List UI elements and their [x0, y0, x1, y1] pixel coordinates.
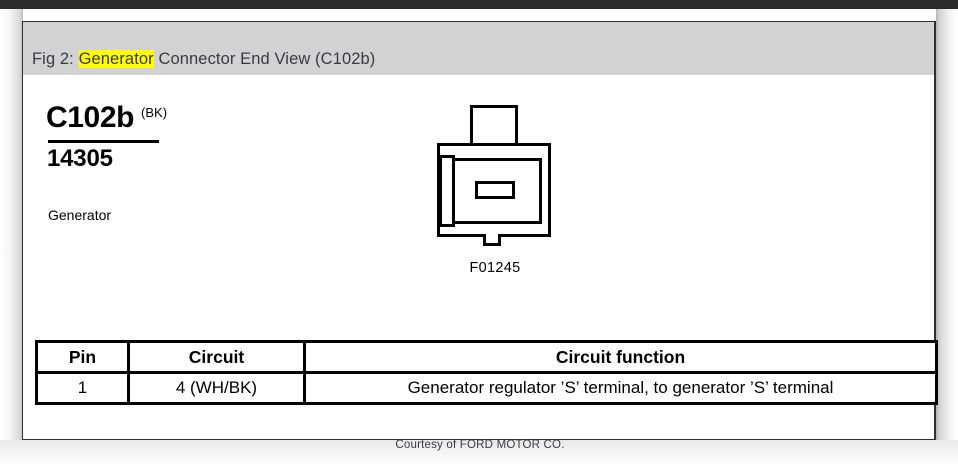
figure-document-card: Fig 2: Generator Connector End View (C10… [22, 21, 936, 440]
figure-caption-prefix: Fig 2: [32, 50, 79, 68]
connector-end-view-icon: F01245 [415, 105, 575, 290]
connector-id-underline [48, 140, 159, 143]
pin-cell-number: 1 [37, 373, 129, 404]
figure-caption-band: Fig 2: Generator Connector End View (C10… [23, 22, 934, 75]
connector-drawing-label: F01245 [415, 260, 575, 276]
connector-top-tab [470, 105, 518, 147]
pin-table-header-circuit: Circuit [129, 342, 305, 373]
connector-color-code: (BK) [141, 105, 167, 120]
connector-pin-cavity [475, 181, 515, 199]
connector-part-number: 14305 [47, 147, 113, 171]
page-gutter-left [0, 9, 23, 468]
connector-bottom-notch [483, 234, 501, 246]
table-row: 1 4 (WH/BK) Generator regulator ’S’ term… [37, 373, 937, 404]
figure-caption-suffix: Connector End View (C102b) [154, 50, 376, 68]
connector-id: C102b [46, 103, 134, 133]
pin-cell-function: Generator regulator ’S’ terminal, to gen… [305, 373, 937, 404]
figure-caption-highlight: Generator [79, 50, 154, 68]
pin-cell-circuit: 4 (WH/BK) [129, 373, 305, 404]
figure-caption: Fig 2: Generator Connector End View (C10… [23, 50, 375, 75]
courtesy-note: Courtesy of FORD MOTOR CO. [23, 439, 937, 451]
connector-id-row: C102b (BK) [46, 103, 167, 133]
screenshot-root: Fig 2: Generator Connector End View (C10… [0, 0, 958, 468]
pin-table-header-row: Pin Circuit Circuit function [37, 342, 937, 373]
pin-table-header-function: Circuit function [305, 342, 937, 373]
connector-name: Generator [48, 207, 111, 223]
browser-chrome-strip [0, 0, 958, 9]
connector-side-rail [439, 155, 455, 227]
pin-table: Pin Circuit Circuit function 1 4 (WH/BK)… [35, 340, 938, 405]
pin-table-header-pin: Pin [37, 342, 129, 373]
figure-body: C102b (BK) 14305 Generator F01245 Pin [23, 75, 934, 439]
page-gutter-right [936, 9, 958, 468]
